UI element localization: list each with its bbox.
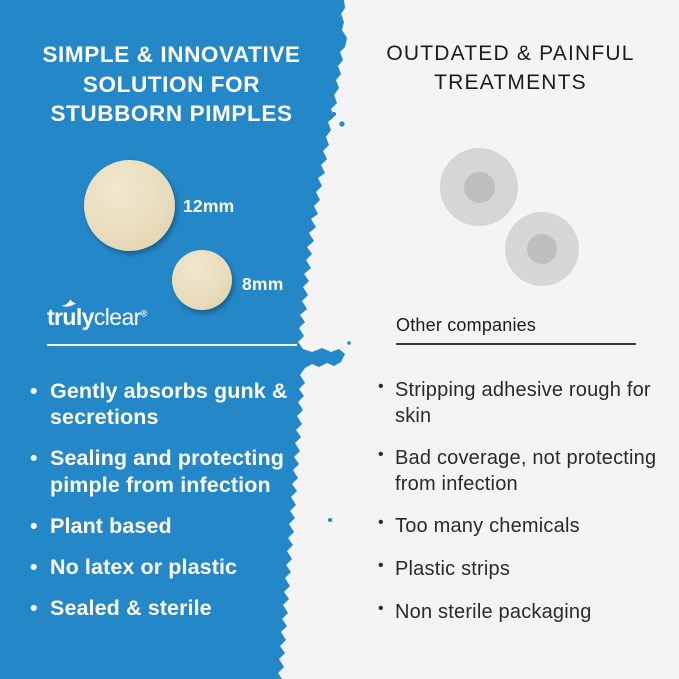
competitor-patch-lower <box>505 212 579 286</box>
list-item: Stripping adhesive rough for skin <box>378 378 678 429</box>
competitor-patch-core <box>527 234 557 264</box>
logo-word-clear: clear <box>94 304 141 330</box>
patch-size-label-12mm: 12mm <box>183 196 234 217</box>
other-companies-panel: OUTDATED & PAINFUL TREATMENTS Other comp… <box>340 0 679 679</box>
list-item: Plastic strips <box>378 557 678 583</box>
logo-word-truly: truly <box>47 304 94 330</box>
comparison-infographic: SIMPLE & INNOVATIVE SOLUTION FOR STUBBOR… <box>0 0 679 679</box>
competitor-patch-upper <box>440 148 518 226</box>
list-item: No latex or plastic <box>30 554 340 580</box>
list-item: Plant based <box>30 513 340 539</box>
list-item: Too many chemicals <box>378 514 678 540</box>
hydrocolloid-patch-12mm <box>84 160 175 251</box>
leaf-icon <box>61 297 77 307</box>
list-item: Sealed & sterile <box>30 595 340 621</box>
list-item: Gently absorbs gunk & secretions <box>30 378 340 430</box>
other-companies-drawback-list: Stripping adhesive rough for skin Bad co… <box>378 378 678 642</box>
other-companies-label: Other companies <box>396 315 536 336</box>
list-item: Non sterile packaging <box>378 600 678 626</box>
right-panel-title: OUTDATED & PAINFUL TREATMENTS <box>358 40 663 98</box>
left-panel-title: SIMPLE & INNOVATIVE SOLUTION FOR STUBBOR… <box>14 40 329 129</box>
competitor-patch-core <box>464 172 495 203</box>
hydrocolloid-patch-8mm <box>172 250 232 310</box>
logo-underline-divider <box>47 344 297 346</box>
patch-size-label-8mm: 8mm <box>242 274 283 295</box>
truly-clear-panel: SIMPLE & INNOVATIVE SOLUTION FOR STUBBOR… <box>0 0 340 679</box>
truly-clear-benefit-list: Gently absorbs gunk & secretions Sealing… <box>30 378 340 637</box>
registered-trademark-mark: ® <box>141 308 147 318</box>
list-item: Sealing and protecting pimple from infec… <box>30 445 340 497</box>
other-companies-underline-divider <box>396 343 636 345</box>
list-item: Bad coverage, not protecting from infect… <box>378 446 678 497</box>
brand-logo: trulyclear® <box>47 306 297 352</box>
